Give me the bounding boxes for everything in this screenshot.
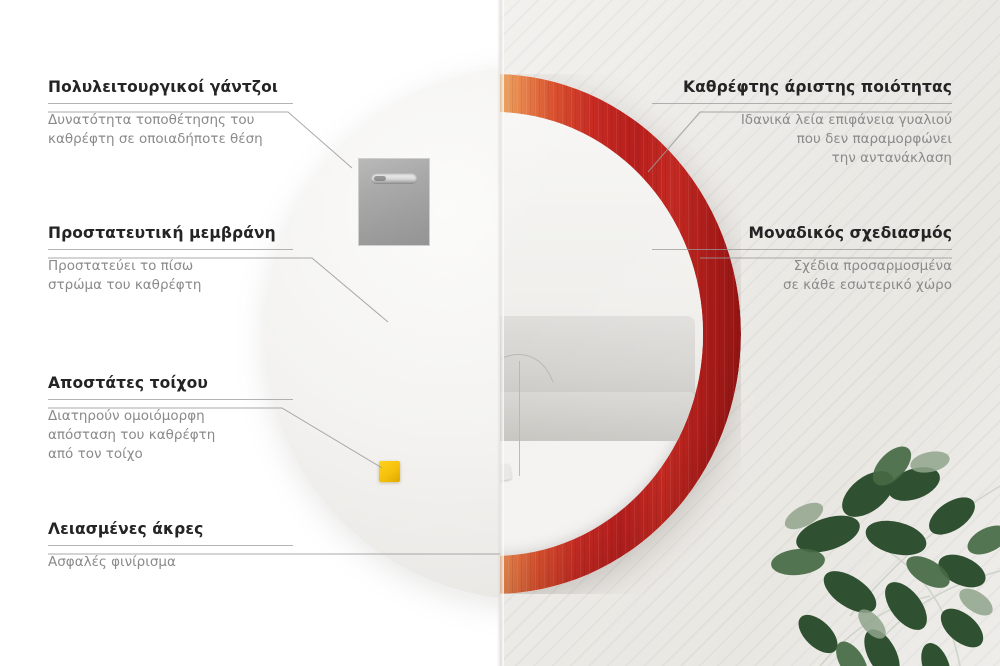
callout-rule <box>48 249 293 250</box>
callout-rule <box>48 399 293 400</box>
callout-hooks: Πολυλειτουργικοί γάντζοι Δυνατότητα τοπο… <box>48 78 293 149</box>
callout-design-description: Σχέδια προσαρμοσμένασε κάθε εσωτερικό χώ… <box>652 257 952 295</box>
callout-spacers-description: Διατηρούν ομοιόμορφηαπόσταση του καθρέφτ… <box>48 407 293 464</box>
callout-edges-title: Λειασμένες άκρες <box>48 520 293 538</box>
callout-spacers-title: Αποστάτες τοίχου <box>48 374 293 392</box>
callout-rule <box>652 249 952 250</box>
callout-edges: Λειασμένες άκρες Ασφαλές φινίρισμα <box>48 520 293 572</box>
callout-spacers: Αποστάτες τοίχου Διατηρούν ομοιόμορφηαπό… <box>48 374 293 464</box>
callout-quality: Καθρέφτης άριστης ποιότητας Ιδανικά λεία… <box>652 78 952 168</box>
callout-rule <box>652 103 952 104</box>
callout-quality-title: Καθρέφτης άριστης ποιότητας <box>652 78 952 96</box>
callout-hooks-description: Δυνατότητα τοποθέτησης τουκαθρέφτη σε οπ… <box>48 111 293 149</box>
callout-design-title: Μοναδικός σχεδιασμός <box>652 224 952 242</box>
callout-rule <box>48 103 293 104</box>
callout-quality-description: Ιδανικά λεία επιφάνεια γυαλιούπου δεν πα… <box>652 111 952 168</box>
callout-edges-description: Ασφαλές φινίρισμα <box>48 553 293 572</box>
callout-membrane-title: Προστατευτική μεμβράνη <box>48 224 293 242</box>
callout-design: Μοναδικός σχεδιασμός Σχέδια προσαρμοσμέν… <box>652 224 952 295</box>
infographic-stage: Πολυλειτουργικοί γάντζοι Δυνατότητα τοπο… <box>0 0 1000 666</box>
callout-hooks-title: Πολυλειτουργικοί γάντζοι <box>48 78 293 96</box>
callout-rule <box>48 545 293 546</box>
callout-membrane: Προστατευτική μεμβράνη Προστατεύει το πί… <box>48 224 293 295</box>
callout-membrane-description: Προστατεύει το πίσωστρώμα του καθρέφτη <box>48 257 293 295</box>
